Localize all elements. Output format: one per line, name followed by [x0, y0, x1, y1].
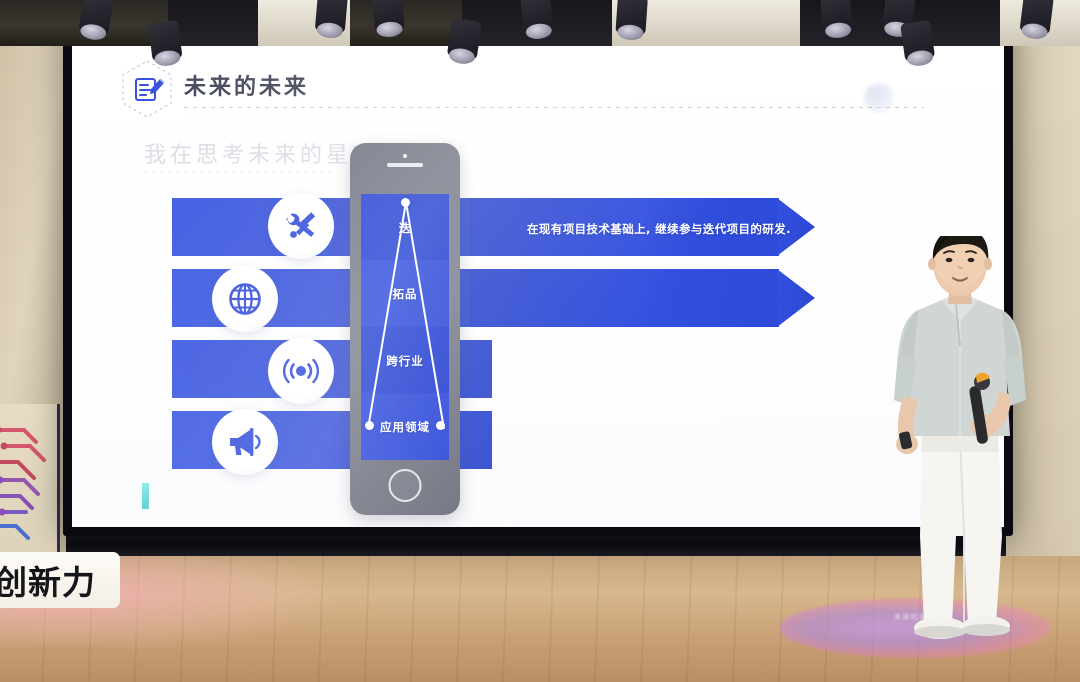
broadcast-signal-icon[interactable]: [268, 338, 334, 404]
stage-light: [520, 0, 554, 34]
v-node-bottom-right: [436, 421, 445, 430]
v-node-bottom-left: [365, 421, 374, 430]
phone-label-2: 拓品: [361, 286, 449, 302]
stage-light: [447, 18, 482, 60]
v-node-top: [401, 198, 410, 207]
stage-light: [372, 0, 405, 32]
phone-home-button[interactable]: [389, 469, 422, 502]
title-divider: [184, 107, 924, 108]
conference-room: 未来的未来 创新力: [0, 0, 1080, 682]
stage-light: [315, 0, 348, 33]
phone-camera: [403, 154, 407, 158]
side-poster: [0, 404, 60, 560]
page-title: 未来的未来: [184, 69, 309, 101]
stage-light: [820, 0, 853, 33]
subtitle-divider: [144, 171, 336, 172]
stage-light: [615, 0, 648, 35]
phone-label-3: 跨行业: [361, 353, 449, 369]
phone-label-1: 迭: [361, 220, 449, 236]
stage-light: [900, 20, 935, 62]
megaphone-icon[interactable]: [212, 409, 278, 475]
phone-mockup: 迭 拓品 跨行业 应用领域: [350, 143, 460, 515]
circuit-graphic: [0, 410, 60, 560]
tools-icon[interactable]: [268, 193, 334, 259]
stage-light: [78, 0, 114, 36]
poster-bottom-banner: 创新力: [0, 552, 120, 608]
arrow-bar-1-text: 在现有项目技术基础上, 继续参与迭代项目的研发.: [527, 221, 791, 237]
decorative-circle: [864, 83, 894, 113]
accent-marker: [142, 483, 149, 509]
phone-earpiece: [387, 163, 423, 167]
globe-icon[interactable]: [212, 266, 278, 332]
stage-light: [1019, 0, 1053, 35]
presenter: [860, 236, 1070, 656]
arrow-head: [777, 269, 815, 327]
document-edit-icon: [120, 59, 174, 119]
slide-subtitle: 我在思考未来的星空: [144, 137, 378, 169]
arrow-body: [470, 269, 779, 327]
poster-text: 创新力: [0, 556, 96, 604]
ceiling-dark-bay: [168, 0, 258, 46]
stage-light: [148, 20, 182, 61]
phone-display: 迭 拓品 跨行业 应用领域: [361, 194, 449, 460]
arrow-bar-2: [470, 269, 815, 327]
